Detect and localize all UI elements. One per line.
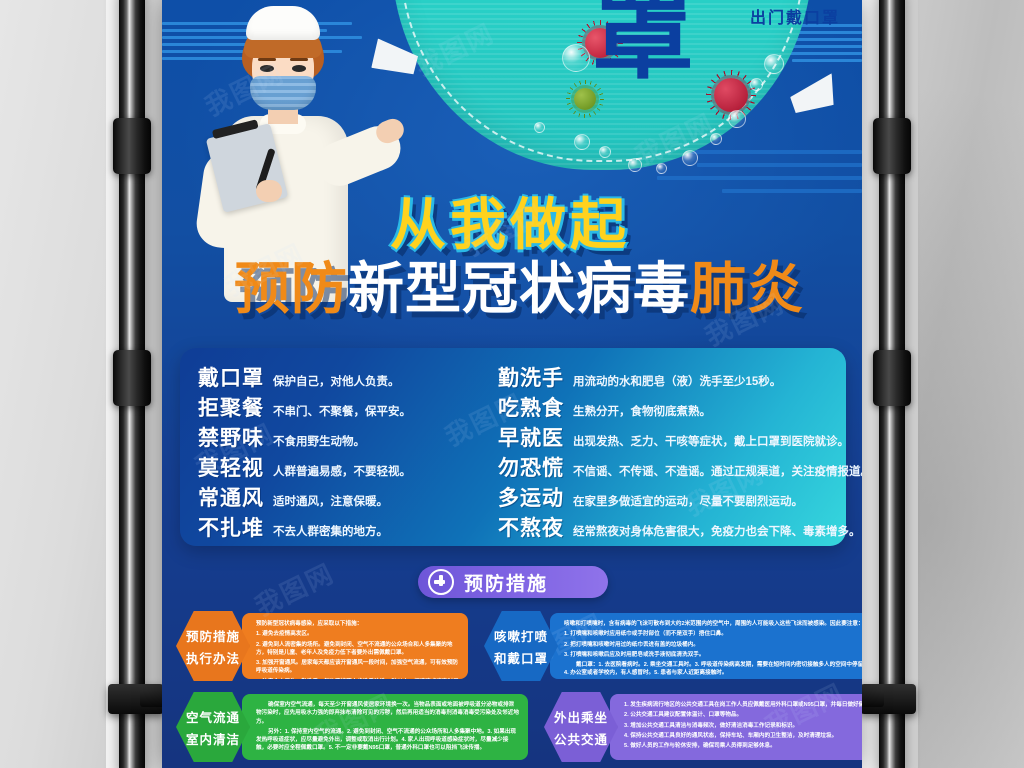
- bubble-icon: [728, 110, 746, 128]
- section-badge-label: 预防措施: [464, 569, 548, 596]
- hex-line-1: 空气流通: [186, 707, 240, 726]
- measure-line: 1. 发生疾病流行地区的公共交通工具在岗工作人员应佩戴医用外科口罩或N95口罩，…: [624, 701, 862, 709]
- tip-value: 在家里多做适宜的运动，尽量不要剧烈运动。: [573, 493, 803, 509]
- tip-row: 戴口罩保护自己，对他人负责。: [198, 362, 498, 392]
- tip-value: 经常熬夜对身体危害很大，免疫力也会下降、毒素增多。: [573, 523, 861, 539]
- tip-row: 不熬夜经常熬夜对身体危害很大，免疫力也会下降、毒素增多。: [498, 512, 862, 542]
- bubble-icon: [656, 163, 667, 174]
- tip-key: 常通风: [198, 482, 264, 512]
- tip-row: 拒聚餐不串门、不聚餐，保平安。: [198, 392, 498, 422]
- measure-body: 确保室内空气流通，每天至少开窗通风使居家环境换一次。当物品表面或地面被呼吸道分泌…: [242, 694, 528, 760]
- medical-cross-icon: [428, 569, 454, 595]
- section-badge-prevention: 预防措施: [418, 566, 608, 598]
- mask-big-character: 罩: [592, 0, 696, 86]
- measure-line: 2. 把打喷嚏和咳嗽时用过的纸巾丢进有盖的垃圾桶内。: [564, 641, 862, 649]
- tip-row: 吃熟食生熟分开，食物彻底煮熟。: [498, 392, 862, 422]
- measure-line: 2. 公共交通工具建议配置体温计、口罩等物品。: [624, 711, 862, 719]
- measure-line: 4. 注意个人卫生。勤洗手，每次要按照六步洗手法洗20秒以上。打喷嚏或咳嗽时用纸…: [256, 678, 459, 679]
- pole-collar-right-upper: [873, 118, 911, 174]
- tip-value: 用流动的水和肥皂（液）洗手至少15秒。: [573, 373, 781, 389]
- measure-line: 3. 打喷嚏和咳嗽后应及时用肥皂或洗手液彻底清洗双手。: [564, 651, 862, 659]
- hex-line-2: 和戴口罩: [494, 648, 548, 667]
- tip-value: 不串门、不聚餐，保平安。: [273, 403, 411, 419]
- nurse-cap: [246, 6, 320, 40]
- measure-line: 戴口罩：1. 去医院看病时。2. 乘坐交通工具时。3. 呼吸道传染病高发期，需要…: [564, 661, 862, 678]
- headline-virus: 新型冠状病毒: [348, 257, 690, 322]
- measure-line: 3. 增加公共交通工具清洁与消毒频次，做好清洁消毒工作记录和标识。: [624, 722, 862, 730]
- bubble-icon: [750, 78, 763, 91]
- tip-value: 生熟分开，食物彻底煮熟。: [573, 403, 711, 419]
- bubble-icon: [710, 133, 722, 145]
- hex-line-1: 外出乘坐: [554, 707, 608, 726]
- measure-hex-label: 预防措施 执行办法: [176, 611, 250, 681]
- tip-value: 不去人群密集的地方。: [273, 523, 388, 539]
- measure-block-public-transport: 外出乘坐 公共交通 1. 发生疾病流行地区的公共交通工具在岗工作人员应佩戴医用外…: [544, 692, 862, 762]
- measure-line: 咳嗽和打喷嚏时，含有病毒的飞沫可散布到大约2米范围内的空气中，周围的人可能吸入这…: [564, 620, 862, 628]
- measure-hex-label: 空气流通 室内清洁: [176, 692, 250, 762]
- measure-block-cough-and-mask: 咳嗽打喷 和戴口罩 咳嗽和打喷嚏时，含有病毒的飞沫可散布到大约2米范围内的空气中…: [484, 611, 862, 681]
- nurse-eye-right: [292, 65, 306, 72]
- tip-row: 早就医出现发热、乏力、干咳等症状，戴上口罩到医院就诊。: [498, 422, 862, 452]
- measure-block-prevention-methods: 预防措施 执行办法 预防新型冠状病毒感染，应采取以下措施： 1. 避免去疫情高发…: [176, 611, 468, 681]
- nurse-hand-left: [256, 180, 282, 202]
- measure-line: 3. 加强开窗通风。居家每天都应该开窗通风一段时间，加强空气流通，可有效预防呼吸…: [256, 659, 459, 676]
- tip-key: 不熬夜: [498, 512, 564, 542]
- hex-line-1: 预防措施: [186, 626, 240, 645]
- tip-key: 戴口罩: [198, 362, 264, 392]
- measure-body: 1. 发生疾病流行地区的公共交通工具在岗工作人员应佩戴医用外科口罩或N95口罩，…: [610, 694, 862, 760]
- tip-value: 适时通风，注意保暖。: [273, 493, 388, 509]
- bubble-icon: [562, 44, 590, 72]
- nurse-face-mask: [250, 76, 316, 110]
- tip-row: 莫轻视人群普遍易感，不要轻视。: [198, 452, 498, 482]
- measure-block-ventilation: 空气流通 室内清洁 确保室内空气流通，每天至少开窗通风使居家环境换一次。当物品表…: [176, 692, 528, 762]
- virus-icon-red-mid: [714, 78, 748, 112]
- measure-hex-label: 外出乘坐 公共交通: [544, 692, 618, 762]
- tip-key: 不扎堆: [198, 512, 264, 542]
- pole-collar-right-lower: [873, 350, 911, 406]
- tip-value: 出现发热、乏力、干咳等症状，戴上口罩到医院就诊。: [573, 433, 849, 449]
- bubble-icon: [764, 54, 784, 74]
- hex-line-1: 咳嗽打喷: [494, 626, 548, 645]
- headline-pneumonia: 肺炎: [690, 257, 804, 322]
- tips-column-right: 勤洗手用流动的水和肥皂（液）洗手至少15秒。 吃熟食生熟分开，食物彻底煮熟。 早…: [498, 362, 862, 536]
- hex-line-2: 公共交通: [554, 729, 608, 748]
- measure-line: 5. 做好人员的工作与轮休安排，确保司乘人员得到足够休息。: [624, 742, 862, 750]
- pole-collar-left-lower: [113, 350, 151, 406]
- tip-value: 不信谣、不传谣、不造谣。通过正规渠道，关注疫情报道。: [573, 463, 862, 479]
- measure-line: 1. 避免去疫情高发区。: [256, 630, 459, 638]
- poster: 罩 出门戴口罩 从我做起 预防新型冠状病毒肺炎: [162, 0, 862, 768]
- bubble-icon: [682, 150, 698, 166]
- tip-value: 人群普遍易感，不要轻视。: [273, 463, 411, 479]
- measure-line: 1. 打喷嚏和咳嗽时应用纸巾或手肘部位（而不是双手）捂住口鼻。: [564, 630, 862, 638]
- measure-line: 另外：1. 保持室内空气的流通。2. 避免到封闭、空气不流通的公众场所和人多集聚…: [256, 728, 519, 753]
- tip-key: 莫轻视: [198, 452, 264, 482]
- tip-value: 保护自己，对他人负责。: [273, 373, 400, 389]
- tip-key: 勤洗手: [498, 362, 564, 392]
- tip-key: 多运动: [498, 482, 564, 512]
- tip-value: 不食用野生动物。: [273, 433, 365, 449]
- measure-body: 预防新型冠状病毒感染，应采取以下措施： 1. 避免去疫情高发区。 2. 避免到人…: [242, 613, 468, 679]
- hex-line-2: 执行办法: [186, 648, 240, 667]
- measure-line: 4. 保持公共交通工具良好的通风状态，保持车站、车厢内的卫生整洁，及时清理垃圾。: [624, 732, 862, 740]
- measure-body: 咳嗽和打喷嚏时，含有病毒的飞沫可散布到大约2米范围内的空气中，周围的人可能吸入这…: [550, 613, 862, 679]
- headline-secondary: 预防新型冠状病毒肺炎: [174, 262, 862, 318]
- headline-primary: 从我做起: [390, 198, 630, 254]
- tip-row: 常通风适时通风，注意保暖。: [198, 482, 498, 512]
- tip-key: 勿恐慌: [498, 452, 564, 482]
- tips-column-left: 戴口罩保护自己，对他人负责。 拒聚餐不串门、不聚餐，保平安。 禁野味不食用野生动…: [198, 362, 498, 536]
- tip-row: 多运动在家里多做适宜的运动，尽量不要剧烈运动。: [498, 482, 862, 512]
- pole-collar-left-upper: [113, 118, 151, 174]
- tip-key: 拒聚餐: [198, 392, 264, 422]
- mask-sub-text: 出门戴口罩: [750, 4, 840, 28]
- tip-key: 禁野味: [198, 422, 264, 452]
- headline-prevent: 预防: [234, 257, 348, 322]
- tip-row: 勿恐慌不信谣、不传谣、不造谣。通过正规渠道，关注疫情报道。: [498, 452, 862, 482]
- mask-ear-loop-right: [789, 73, 837, 120]
- screenshot-stage: 罩 出门戴口罩 从我做起 预防新型冠状病毒肺炎: [0, 0, 1024, 768]
- measure-line: 2. 避免到人流密集的场所。避免到封闭、空气不流通的公众场合和人多集聚的地方，特…: [256, 641, 459, 658]
- bubble-icon: [599, 146, 611, 158]
- nurse-eye-left: [260, 65, 274, 72]
- nurse-eyebrow-right: [290, 58, 308, 61]
- measure-line: 确保室内空气流通，每天至少开窗通风使居家环境换一次。当物品表面或地面被呼吸道分泌…: [256, 701, 519, 726]
- bubble-icon: [628, 158, 642, 172]
- tip-row: 不扎堆不去人群密集的地方。: [198, 512, 498, 542]
- nurse-eyebrow-left: [258, 58, 276, 61]
- tip-row: 勤洗手用流动的水和肥皂（液）洗手至少15秒。: [498, 362, 862, 392]
- hex-line-2: 室内清洁: [186, 729, 240, 748]
- measure-hex-label: 咳嗽打喷 和戴口罩: [484, 611, 558, 681]
- tips-card: 戴口罩保护自己，对他人负责。 拒聚餐不串门、不聚餐，保平安。 禁野味不食用野生动…: [180, 348, 846, 546]
- tip-key: 吃熟食: [498, 392, 564, 422]
- tip-row: 禁野味不食用野生动物。: [198, 422, 498, 452]
- tip-key: 早就医: [498, 422, 564, 452]
- bubble-icon: [534, 122, 545, 133]
- measure-line: 预防新型冠状病毒感染，应采取以下措施：: [256, 620, 459, 628]
- bubble-icon: [574, 134, 590, 150]
